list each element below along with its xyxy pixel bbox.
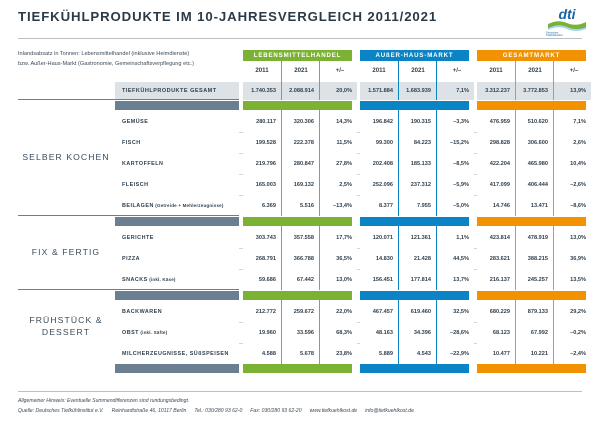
row-label-main: SNACKS bbox=[122, 277, 148, 283]
svg-text:dti: dti bbox=[558, 6, 576, 22]
group-divider-g0 bbox=[319, 291, 320, 364]
row-label-main: PIZZA bbox=[122, 256, 140, 262]
group-divider-g1 bbox=[436, 291, 437, 364]
row-label-obst: OBST (inkl. Säfte) bbox=[115, 322, 239, 343]
cell-gemuese-g0-delta: 14,3% bbox=[319, 111, 357, 132]
col-g1-2021: 2021 bbox=[399, 63, 437, 77]
cell-kartoffeln-g1-2011: 202.408 bbox=[360, 153, 398, 174]
cell-fleisch-g0-delta: 2,5% bbox=[319, 174, 357, 195]
cell-total-g1-2021: 1.683.939 bbox=[398, 82, 436, 100]
section-band-selber-kochen-b0 bbox=[243, 101, 352, 110]
cell-pizza-g2-2011: 283.621 bbox=[477, 248, 515, 269]
cell-milcherzeugnisse-suessspeisen-g2-2011: 10.477 bbox=[477, 343, 515, 364]
cell-kartoffeln-g2-2021: 465.980 bbox=[515, 153, 553, 174]
cell-backwaren-g0-delta: 22,0% bbox=[319, 301, 357, 322]
group-header-gesamtmarkt: GESAMTMARKT bbox=[477, 50, 586, 61]
group-header-ausser-haus-markt: AUßER-HAUS-MARKT bbox=[360, 50, 469, 61]
row-label-main: KARTOFFELN bbox=[122, 161, 163, 167]
col-g0-2011: 2011 bbox=[243, 63, 281, 77]
cell-snacks-g0-delta: 13,0% bbox=[319, 269, 357, 290]
cell-total-g0-2021: 2.088.914 bbox=[281, 82, 319, 100]
footer-source-line: Quelle: Deutsches Tiefkühlinstitut e.V.R… bbox=[18, 406, 582, 416]
cell-obst-g2-2011: 68.123 bbox=[477, 322, 515, 343]
section-band-selber-kochen-b1 bbox=[360, 101, 469, 110]
cell-gemuese-g2-2011: 476.959 bbox=[477, 111, 515, 132]
cell-beilagen-g0-2021: 5.516 bbox=[281, 195, 319, 216]
row-label-gemuese: GEMÜSE bbox=[115, 111, 239, 132]
cell-snacks-g2-2021: 245.257 bbox=[515, 269, 553, 290]
group-divider-total-g1 bbox=[398, 61, 399, 100]
cell-obst-g0-2011: 19.960 bbox=[243, 322, 281, 343]
cell-gemuese-g0-2021: 320.306 bbox=[281, 111, 319, 132]
cell-kartoffeln-g0-delta: 27,8% bbox=[319, 153, 357, 174]
table-row: GEMÜSE280.117320.30614,3%196.842190.315–… bbox=[0, 111, 600, 132]
cell-beilagen-g1-2011: 8.377 bbox=[360, 195, 398, 216]
cell-total-g0-delta: 20,0% bbox=[319, 82, 357, 100]
row-label-fleisch: FLEISCH bbox=[115, 174, 239, 195]
cell-gerichte-g0-2021: 357.558 bbox=[281, 227, 319, 248]
group-divider-total-g1 bbox=[436, 61, 437, 100]
group-divider-total-g2 bbox=[553, 61, 554, 100]
cell-pizza-g1-delta: 44,5% bbox=[436, 248, 474, 269]
cell-gerichte-g1-2011: 120.071 bbox=[360, 227, 398, 248]
cell-fisch-g1-2011: 99.300 bbox=[360, 132, 398, 153]
cell-milcherzeugnisse-suessspeisen-g1-2021: 4.543 bbox=[398, 343, 436, 364]
cell-snacks-g1-delta: 13,7% bbox=[436, 269, 474, 290]
cell-gemuese-g2-2021: 510.620 bbox=[515, 111, 553, 132]
col-g0-2021: 2021 bbox=[282, 63, 320, 77]
cell-milcherzeugnisse-suessspeisen-g1-2011: 5.889 bbox=[360, 343, 398, 364]
row-label-beilagen: BEILAGEN (Getreide + Mehlerzeugnisse) bbox=[115, 195, 239, 216]
cell-gerichte-g1-2021: 121.361 bbox=[398, 227, 436, 248]
section-title-selber-kochen: SELBER KOCHEN bbox=[18, 152, 114, 164]
col-g1-2011: 2011 bbox=[360, 63, 398, 77]
row-label-milcherzeugnisse-suessspeisen: MILCHERZEUGNISSE, SÜßSPEISEN bbox=[115, 343, 239, 364]
cell-backwaren-g0-2021: 259.672 bbox=[281, 301, 319, 322]
footer: Allgemeiner Hinweis: Eventuelle Summendi… bbox=[18, 396, 582, 416]
cell-fisch-g0-2021: 222.378 bbox=[281, 132, 319, 153]
footer-source-label: Quelle: Deutsches Tiefkühlinstitut e.V. bbox=[18, 408, 104, 414]
cell-backwaren-g1-delta: 32,5% bbox=[436, 301, 474, 322]
section-band-fix-fertig-b2 bbox=[477, 217, 586, 226]
group-divider-g0 bbox=[319, 217, 320, 290]
table-row: GERICHTE303.743357.55817,7%120.071121.36… bbox=[0, 227, 600, 248]
cell-kartoffeln-g2-delta: 10,4% bbox=[553, 153, 591, 174]
footer-website-link[interactable]: www.tiefkuehlkost.de bbox=[310, 408, 358, 414]
group-divider-g0 bbox=[319, 101, 320, 216]
section-band-selber-kochen-b2 bbox=[477, 101, 586, 110]
row-label-main: OBST bbox=[122, 330, 139, 336]
footer-phone: Tel.: 030/280 93 62-0 bbox=[194, 408, 242, 414]
section-band-bottom-b1 bbox=[360, 364, 469, 373]
cell-obst-g1-2011: 48.163 bbox=[360, 322, 398, 343]
cell-fleisch-g1-2021: 237.312 bbox=[398, 174, 436, 195]
group-divider-g2 bbox=[515, 101, 516, 216]
table-row: SNACKS (inkl. Käse)59.68667.44213,0%156.… bbox=[0, 269, 600, 290]
group-divider-g2 bbox=[553, 217, 554, 290]
cell-kartoffeln-g1-delta: –8,5% bbox=[436, 153, 474, 174]
cell-fisch-g2-2021: 306.600 bbox=[515, 132, 553, 153]
footer-note: Allgemeiner Hinweis: Eventuelle Summendi… bbox=[18, 396, 582, 406]
col-g1-delta: +/– bbox=[438, 63, 476, 77]
intro-line-2: bzw. Außer-Haus-Markt (Gastronomie, Geme… bbox=[18, 60, 228, 70]
cell-snacks-g1-2021: 177.814 bbox=[398, 269, 436, 290]
cell-total-g1-2011: 1.571.884 bbox=[360, 82, 398, 100]
cell-gemuese-g0-2011: 280.117 bbox=[243, 111, 281, 132]
footer-address: Reinhardtstraße 46, 10117 Berlin bbox=[112, 408, 187, 414]
group-divider-g2 bbox=[515, 217, 516, 290]
cell-kartoffeln-g0-2011: 219.796 bbox=[243, 153, 281, 174]
section-band-selber-kochen-b-gray bbox=[115, 101, 239, 110]
cell-backwaren-g1-2021: 619.460 bbox=[398, 301, 436, 322]
cell-beilagen-g2-2011: 14.746 bbox=[477, 195, 515, 216]
cell-fleisch-g1-2011: 252.096 bbox=[360, 174, 398, 195]
cell-milcherzeugnisse-suessspeisen-g2-delta: –2,4% bbox=[553, 343, 591, 364]
group-divider-g2 bbox=[553, 101, 554, 216]
cell-pizza-g1-2011: 14.830 bbox=[360, 248, 398, 269]
cell-obst-g2-2021: 67.992 bbox=[515, 322, 553, 343]
cell-gerichte-g1-delta: 1,1% bbox=[436, 227, 474, 248]
row-label-main: MILCHERZEUGNISSE, SÜßSPEISEN bbox=[122, 351, 229, 357]
row-label-gerichte: GERICHTE bbox=[115, 227, 239, 248]
row-label-main: GEMÜSE bbox=[122, 119, 148, 125]
group-divider-total-g0 bbox=[281, 61, 282, 100]
group-divider-g1 bbox=[398, 291, 399, 364]
section-band-bottom-b-gray bbox=[115, 364, 239, 373]
cell-gemuese-g1-2021: 190.315 bbox=[398, 111, 436, 132]
cell-milcherzeugnisse-suessspeisen-g1-delta: –22,9% bbox=[436, 343, 474, 364]
row-label-main: BACKWAREN bbox=[122, 309, 162, 315]
section-title-fruehstueck-dessert: FRÜHSTÜCK & DESSERT bbox=[18, 315, 114, 338]
col-g2-2011: 2011 bbox=[477, 63, 515, 77]
dti-logo: dti Deutsches Tiefkühlinstitut bbox=[542, 4, 592, 36]
cell-backwaren-g2-delta: 29,2% bbox=[553, 301, 591, 322]
cell-backwaren-g1-2011: 467.457 bbox=[360, 301, 398, 322]
footer-email-link[interactable]: info@tiefkuehlkost.de bbox=[365, 408, 414, 414]
cell-pizza-g2-delta: 36,9% bbox=[553, 248, 591, 269]
group-divider-g0 bbox=[281, 217, 282, 290]
cell-backwaren-g2-2021: 879.133 bbox=[515, 301, 553, 322]
section-band-bottom-b0 bbox=[243, 364, 352, 373]
section-band-fix-fertig-b1 bbox=[360, 217, 469, 226]
cell-obst-g0-2021: 33.596 bbox=[281, 322, 319, 343]
cell-fisch-g1-delta: –15,2% bbox=[436, 132, 474, 153]
cell-pizza-g0-2021: 366.788 bbox=[281, 248, 319, 269]
row-label-main: FLEISCH bbox=[122, 182, 149, 188]
cell-snacks-g2-delta: 13,5% bbox=[553, 269, 591, 290]
cell-gerichte-g0-delta: 17,7% bbox=[319, 227, 357, 248]
row-label-sub: (Getreide + Mehlerzeugnisse) bbox=[154, 203, 224, 208]
page-title: TIEFKÜHLPRODUKTE IM 10-JAHRESVERGLEICH 2… bbox=[18, 9, 437, 24]
section-band-fruehstueck-dessert-b-gray bbox=[115, 291, 239, 300]
cell-beilagen-g0-delta: –13,4% bbox=[319, 195, 357, 216]
cell-fleisch-g0-2011: 165.003 bbox=[243, 174, 281, 195]
row-label-main: BEILAGEN bbox=[122, 203, 154, 209]
title-bar: TIEFKÜHLPRODUKTE IM 10-JAHRESVERGLEICH 2… bbox=[0, 0, 600, 40]
table-row-total: TIEFKÜHLPRODUKTE GESAMT1.740.3532.088.91… bbox=[0, 82, 600, 100]
row-label-snacks: SNACKS (inkl. Käse) bbox=[115, 269, 239, 290]
group-divider-g0 bbox=[281, 101, 282, 216]
cell-fisch-g0-2011: 199.528 bbox=[243, 132, 281, 153]
cell-milcherzeugnisse-suessspeisen-g0-2021: 5.678 bbox=[281, 343, 319, 364]
cell-kartoffeln-g0-2021: 280.847 bbox=[281, 153, 319, 174]
group-divider-total-g2 bbox=[515, 61, 516, 100]
section-band-fruehstueck-dessert-b2 bbox=[477, 291, 586, 300]
cell-fleisch-g0-2021: 169.132 bbox=[281, 174, 319, 195]
cell-total-g2-2021: 3.772.853 bbox=[515, 82, 553, 100]
cell-fleisch-g1-delta: –5,9% bbox=[436, 174, 474, 195]
cell-pizza-g0-2011: 268.791 bbox=[243, 248, 281, 269]
group-divider-g2 bbox=[515, 291, 516, 364]
cell-pizza-g2-2021: 388.215 bbox=[515, 248, 553, 269]
row-label-kartoffeln: KARTOFFELN bbox=[115, 153, 239, 174]
cell-fleisch-g2-2011: 417.099 bbox=[477, 174, 515, 195]
footer-divider bbox=[18, 391, 582, 392]
row-label-main: GERICHTE bbox=[122, 235, 154, 241]
logo-subtitle-2: Tiefkühlinstitut bbox=[546, 33, 563, 36]
cell-fisch-g1-2021: 84.223 bbox=[398, 132, 436, 153]
title-divider bbox=[18, 38, 582, 39]
cell-beilagen-g1-2021: 7.955 bbox=[398, 195, 436, 216]
row-label-pizza: PIZZA bbox=[115, 248, 239, 269]
cell-gemuese-g1-delta: –3,3% bbox=[436, 111, 474, 132]
section-band-fruehstueck-dessert-b1 bbox=[360, 291, 469, 300]
cell-gerichte-g2-2021: 478.919 bbox=[515, 227, 553, 248]
cell-beilagen-g1-delta: –5,0% bbox=[436, 195, 474, 216]
table-row: MILCHERZEUGNISSE, SÜßSPEISEN4.5885.67823… bbox=[0, 343, 600, 364]
group-divider-g2 bbox=[553, 291, 554, 364]
col-g0-delta: +/– bbox=[321, 63, 359, 77]
cell-snacks-g0-2011: 59.686 bbox=[243, 269, 281, 290]
cell-fleisch-g2-2021: 406.444 bbox=[515, 174, 553, 195]
cell-obst-g2-delta: –0,2% bbox=[553, 322, 591, 343]
col-g2-delta: +/– bbox=[555, 63, 593, 77]
cell-snacks-g1-2011: 156.451 bbox=[360, 269, 398, 290]
cell-pizza-g1-2021: 21.428 bbox=[398, 248, 436, 269]
cell-gerichte-g2-delta: 13,0% bbox=[553, 227, 591, 248]
cell-fisch-g2-2011: 298.828 bbox=[477, 132, 515, 153]
cell-fleisch-g2-delta: –2,6% bbox=[553, 174, 591, 195]
cell-kartoffeln-g2-2011: 422.204 bbox=[477, 153, 515, 174]
group-divider-g1 bbox=[436, 217, 437, 290]
cell-total-g2-2011: 3.312.237 bbox=[477, 82, 515, 100]
section-title-fix-fertig: FIX & FERTIG bbox=[18, 247, 114, 259]
intro-note: Inlandsabsatz in Tonnen: Lebensmittelhan… bbox=[18, 50, 228, 70]
intro-line-1: Inlandsabsatz in Tonnen: Lebensmittelhan… bbox=[18, 50, 228, 60]
cell-total-g2-delta: 13,9% bbox=[553, 82, 591, 100]
group-divider-g1 bbox=[398, 101, 399, 216]
section-band-fix-fertig-b-gray bbox=[115, 217, 239, 226]
section-band-fruehstueck-dessert-b0 bbox=[243, 291, 352, 300]
cell-milcherzeugnisse-suessspeisen-g0-2011: 4.588 bbox=[243, 343, 281, 364]
cell-total-g0-2011: 1.740.353 bbox=[243, 82, 281, 100]
row-label-fisch: FISCH bbox=[115, 132, 239, 153]
cell-milcherzeugnisse-suessspeisen-g0-delta: 23,8% bbox=[319, 343, 357, 364]
footer-fax: Fax: 030/280 93 62-20 bbox=[250, 408, 301, 414]
group-divider-g0 bbox=[281, 291, 282, 364]
table-row: BEILAGEN (Getreide + Mehlerzeugnisse)6.3… bbox=[0, 195, 600, 216]
cell-obst-g1-delta: –28,6% bbox=[436, 322, 474, 343]
cell-pizza-g0-delta: 36,5% bbox=[319, 248, 357, 269]
row-label-total: TIEFKÜHLPRODUKTE GESAMT bbox=[115, 82, 239, 100]
cell-backwaren-g0-2011: 212.772 bbox=[243, 301, 281, 322]
cell-snacks-g0-2021: 67.442 bbox=[281, 269, 319, 290]
cell-fisch-g2-delta: 2,6% bbox=[553, 132, 591, 153]
cell-total-g1-delta: 7,1% bbox=[436, 82, 474, 100]
section-band-bottom-b2 bbox=[477, 364, 586, 373]
row-label-backwaren: BACKWAREN bbox=[115, 301, 239, 322]
group-header-lebensmittelhandel: LEBENSMITTELHANDEL bbox=[243, 50, 352, 61]
cell-backwaren-g2-2011: 680.229 bbox=[477, 301, 515, 322]
cell-gerichte-g0-2011: 303.743 bbox=[243, 227, 281, 248]
cell-beilagen-g2-2021: 13.471 bbox=[515, 195, 553, 216]
col-g2-2021: 2021 bbox=[516, 63, 554, 77]
table-row: FLEISCH165.003169.1322,5%252.096237.312–… bbox=[0, 174, 600, 195]
cell-gemuese-g1-2011: 196.842 bbox=[360, 111, 398, 132]
group-divider-g1 bbox=[398, 217, 399, 290]
group-divider-total-g0 bbox=[319, 61, 320, 100]
section-band-fix-fertig-b0 bbox=[243, 217, 352, 226]
row-label-sub: (inkl. Käse) bbox=[148, 277, 176, 282]
infographic-page: TIEFKÜHLPRODUKTE IM 10-JAHRESVERGLEICH 2… bbox=[0, 0, 600, 423]
cell-milcherzeugnisse-suessspeisen-g2-2021: 10.221 bbox=[515, 343, 553, 364]
cell-snacks-g2-2011: 216.137 bbox=[477, 269, 515, 290]
cell-fisch-g0-delta: 11,5% bbox=[319, 132, 357, 153]
cell-gemuese-g2-delta: 7,1% bbox=[553, 111, 591, 132]
cell-obst-g1-2021: 34.396 bbox=[398, 322, 436, 343]
table-row: FISCH199.528222.37811,5%99.30084.223–15,… bbox=[0, 132, 600, 153]
cell-beilagen-g2-delta: –8,6% bbox=[553, 195, 591, 216]
group-divider-g1 bbox=[436, 101, 437, 216]
cell-beilagen-g0-2011: 6.369 bbox=[243, 195, 281, 216]
row-label-sub: (inkl. Säfte) bbox=[139, 330, 167, 335]
cell-gerichte-g2-2011: 423.814 bbox=[477, 227, 515, 248]
cell-obst-g0-delta: 68,3% bbox=[319, 322, 357, 343]
cell-kartoffeln-g1-2021: 185.133 bbox=[398, 153, 436, 174]
row-label-main: FISCH bbox=[122, 140, 141, 146]
